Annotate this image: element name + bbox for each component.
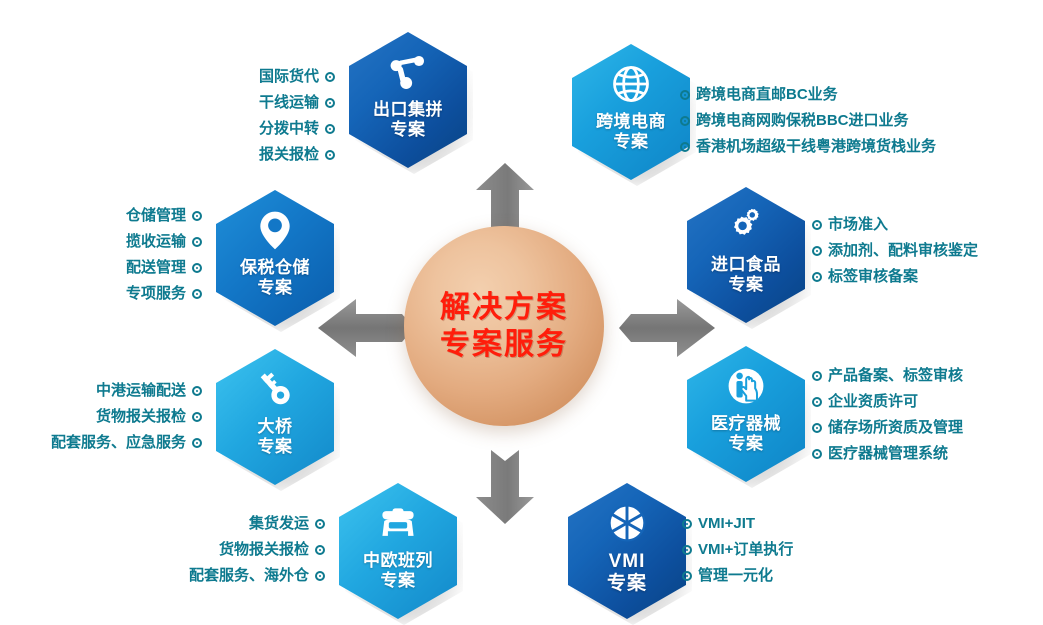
bullet-dot-icon — [680, 90, 690, 100]
bullet-item: VMI+订单执行 — [682, 537, 793, 563]
share-network-icon — [386, 50, 430, 94]
node-label-bonded-warehousing: 保税仓储 专案 — [240, 258, 310, 298]
bullet-item: 集货发运 — [160, 511, 325, 537]
bullets-imported-food: 市场准入 添加剂、配料审核鉴定 标签审核备案 — [812, 212, 978, 290]
bullets-vmi: VMI+JIT VMI+订单执行 管理一元化 — [682, 511, 793, 589]
globe-icon — [609, 62, 653, 106]
center-hub: 解决方案 专案服务 — [404, 226, 604, 426]
center-title: 解决方案 专案服务 — [440, 289, 568, 364]
bullet-item: 中港运输配送 — [30, 378, 202, 404]
bullet-dot-icon — [325, 98, 335, 108]
bullet-dot-icon — [812, 220, 822, 230]
bullet-dot-icon — [812, 423, 822, 433]
bullet-dot-icon — [682, 545, 692, 555]
bullet-dot-icon — [192, 211, 202, 221]
bullets-bridge: 中港运输配送 货物报关报检 配套服务、应急服务 — [30, 378, 202, 456]
aperture-icon — [605, 501, 649, 545]
arrow-right — [619, 299, 715, 357]
bullet-item: 配送管理 — [118, 255, 202, 281]
bullet-item: 添加剂、配料审核鉴定 — [812, 238, 978, 264]
bullet-dot-icon — [192, 237, 202, 247]
bullet-dot-icon — [192, 386, 202, 396]
bullet-item: 企业资质许可 — [812, 389, 963, 415]
bullet-dot-icon — [680, 142, 690, 152]
bullet-dot-icon — [315, 545, 325, 555]
bullet-dot-icon — [192, 263, 202, 273]
bullet-item: 产品备案、标签审核 — [812, 363, 963, 389]
arrow-left — [318, 299, 414, 357]
bullet-item: 医疗器械管理系统 — [812, 441, 963, 467]
bullets-china-europe-railway: 集货发运 货物报关报检 配套服务、海外仓 — [160, 511, 325, 589]
solution-diagram: 解决方案 专案服务 出口集拼 专案 国际货代 干线运输 分拨中转 报关报检 — [0, 0, 1043, 625]
bullet-item: 香港机场超级干线粤港跨境货栈业务 — [680, 134, 936, 160]
bullet-item: 货物报关报检 — [30, 404, 202, 430]
node-label-export-consolidation: 出口集拼 专案 — [373, 100, 443, 140]
bullet-item: 市场准入 — [812, 212, 978, 238]
bullet-item: 国际货代 — [225, 64, 335, 90]
bullet-dot-icon — [325, 150, 335, 160]
bullet-dot-icon — [812, 449, 822, 459]
bullet-dot-icon — [315, 519, 325, 529]
info-hand-icon — [724, 364, 768, 408]
bullets-export-consolidation: 国际货代 干线运输 分拨中转 报关报检 — [225, 64, 335, 168]
bullet-dot-icon — [325, 124, 335, 134]
bullet-item: 仓储管理 — [118, 203, 202, 229]
bullet-item: 跨境电商网购保税BBC进口业务 — [680, 108, 936, 134]
node-label-imported-food: 进口食品 专案 — [711, 255, 781, 295]
bullet-dot-icon — [192, 289, 202, 299]
bullet-dot-icon — [192, 412, 202, 422]
bullet-item: 配套服务、海外仓 — [160, 563, 325, 589]
bullet-item: 储存场所资质及管理 — [812, 415, 963, 441]
map-pin-icon — [253, 208, 297, 252]
bullets-bonded-warehousing: 仓储管理 揽收运输 配送管理 专项服务 — [118, 203, 202, 307]
bullet-dot-icon — [192, 438, 202, 448]
bullet-item: 货物报关报检 — [160, 537, 325, 563]
bullet-dot-icon — [812, 371, 822, 381]
bullet-item: 分拨中转 — [225, 116, 335, 142]
bullet-item: 标签审核备案 — [812, 264, 978, 290]
key-icon — [253, 367, 297, 411]
bullet-item: VMI+JIT — [682, 511, 793, 537]
bullet-item: 管理一元化 — [682, 563, 793, 589]
bullet-dot-icon — [682, 571, 692, 581]
bullets-cross-border-ecommerce: 跨境电商直邮BC业务 跨境电商网购保税BBC进口业务 香港机场超级干线粤港跨境货… — [680, 82, 936, 160]
bullet-item: 跨境电商直邮BC业务 — [680, 82, 936, 108]
bullet-item: 配套服务、应急服务 — [30, 430, 202, 456]
node-label-vmi: VMI 专案 — [607, 551, 647, 596]
bullet-item: 干线运输 — [225, 90, 335, 116]
bullets-medical-devices: 产品备案、标签审核 企业资质许可 储存场所资质及管理 医疗器械管理系统 — [812, 363, 963, 467]
bullet-dot-icon — [812, 397, 822, 407]
bullet-item: 揽收运输 — [118, 229, 202, 255]
node-label-cross-border-ecommerce: 跨境电商 专案 — [596, 112, 666, 152]
gears-icon — [724, 205, 768, 249]
bullet-item: 专项服务 — [118, 281, 202, 307]
bullet-dot-icon — [812, 272, 822, 282]
bullet-dot-icon — [812, 246, 822, 256]
node-label-bridge: 大桥 专案 — [258, 417, 293, 457]
node-label-china-europe-railway: 中欧班列 专案 — [363, 551, 433, 591]
node-label-medical-devices: 医疗器械 专案 — [711, 414, 781, 454]
bullet-dot-icon — [682, 519, 692, 529]
bullet-dot-icon — [680, 116, 690, 126]
train-icon — [376, 501, 420, 545]
arrow-down — [476, 450, 534, 524]
bullet-dot-icon — [315, 571, 325, 581]
bullet-item: 报关报检 — [225, 142, 335, 168]
bullet-dot-icon — [325, 72, 335, 82]
